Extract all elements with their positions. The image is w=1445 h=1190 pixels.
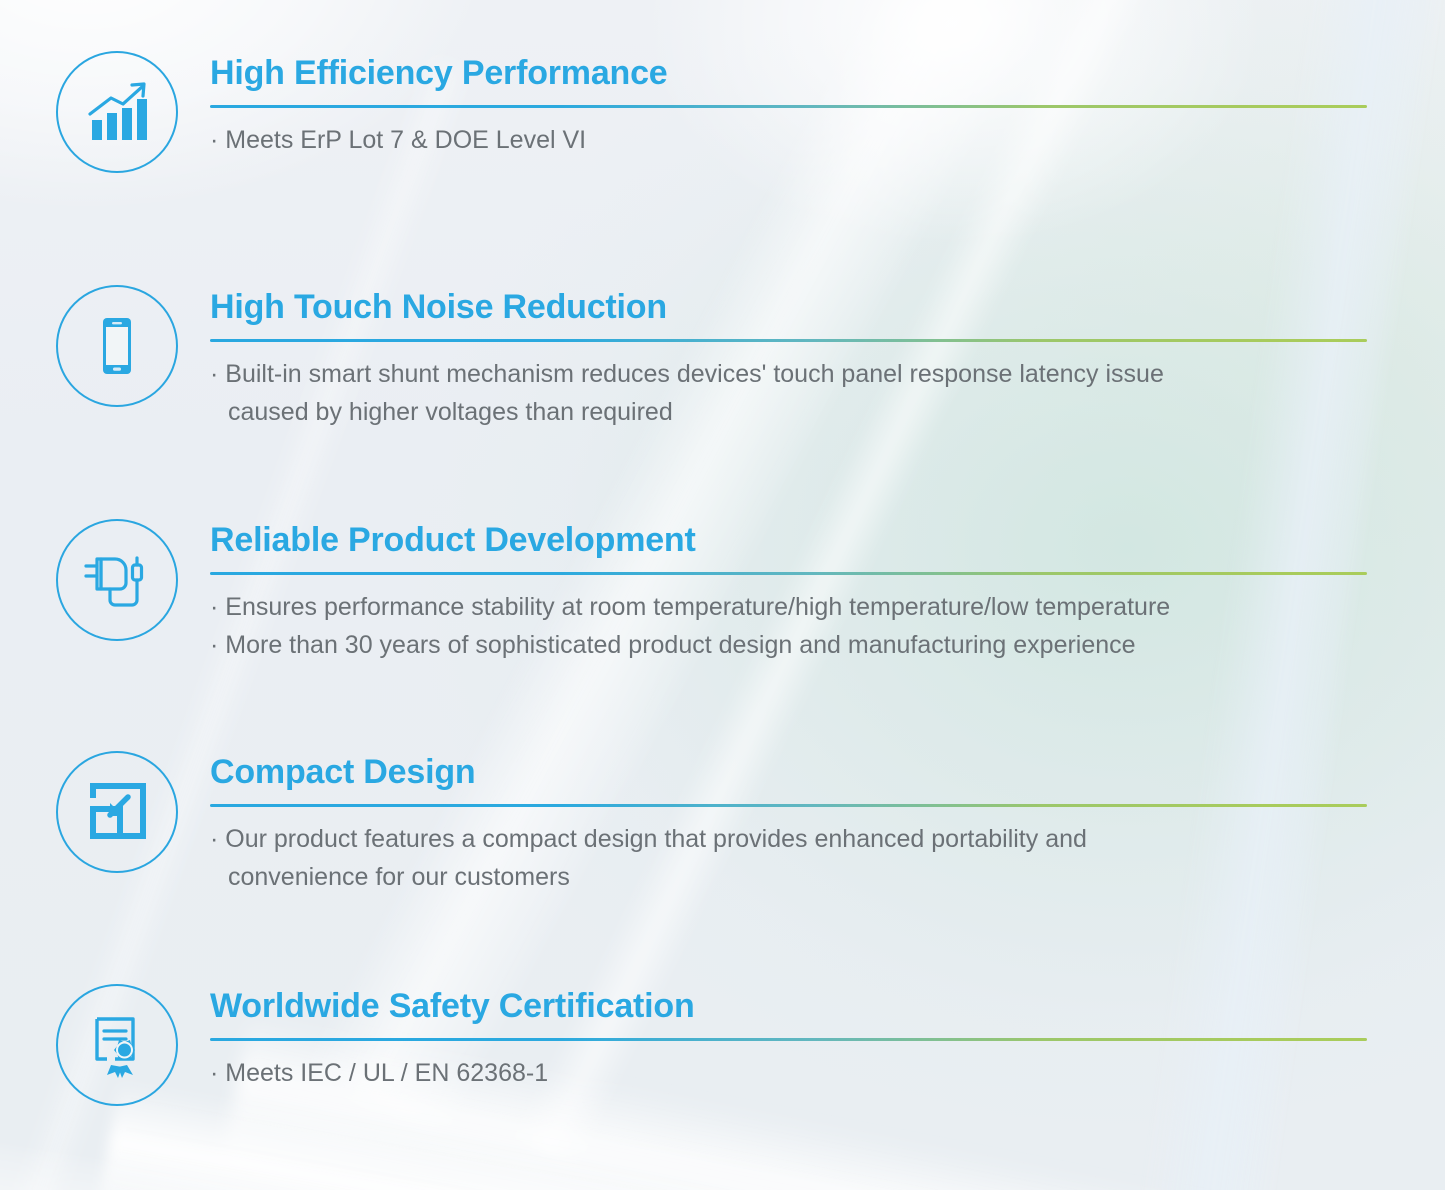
bullet-text-continuation: convenience for our customers	[210, 858, 1367, 896]
background-streak-bottom-2	[99, 1080, 1445, 1190]
feature-title: Compact Design	[210, 752, 1367, 792]
bullet-text: Our product features a compact design th…	[225, 825, 1087, 853]
bar-chart-growth-icon	[81, 76, 153, 148]
feature-title: Worldwide Safety Certification	[210, 986, 1367, 1026]
bullet-text: More than 30 years of sophisticated prod…	[225, 631, 1135, 659]
bullet-mark: ·	[210, 825, 218, 853]
feature-divider	[210, 804, 1367, 807]
feature-body: · Built-in smart shunt mechanism reduces…	[210, 355, 1367, 431]
bullet-mark: ·	[210, 631, 218, 659]
feature-list-page: High Efficiency Performance · Meets ErP …	[0, 0, 1445, 1190]
feature-text-worldwide-safety-certification: Worldwide Safety Certification · Meets I…	[210, 986, 1367, 1092]
icon-circle	[56, 984, 178, 1106]
feature-icon-compact-design	[56, 751, 178, 873]
feature-icon-high-efficiency-performance	[56, 51, 178, 173]
feature-text-high-touch-noise-reduction: High Touch Noise Reduction · Built-in sm…	[210, 287, 1367, 431]
feature-body: · Our product features a compact design …	[210, 820, 1367, 896]
bullet-text-continuation: caused by higher voltages than required	[210, 393, 1367, 431]
resize-shrink-icon	[81, 776, 153, 848]
feature-icon-reliable-product-development	[56, 519, 178, 641]
feature-title: High Efficiency Performance	[210, 53, 1367, 93]
feature-icon-high-touch-noise-reduction	[56, 285, 178, 407]
bullet-mark: ·	[210, 360, 218, 388]
bullet-text: Meets ErP Lot 7 & DOE Level VI	[225, 126, 586, 154]
icon-circle	[56, 285, 178, 407]
power-adapter-icon	[79, 544, 155, 616]
bullet-mark: ·	[210, 1059, 218, 1087]
feature-title: High Touch Noise Reduction	[210, 287, 1367, 327]
feature-bullet-line: · Ensures performance stability at room …	[210, 588, 1367, 626]
bullet-text: Meets IEC / UL / EN 62368-1	[225, 1059, 548, 1087]
feature-text-reliable-product-development: Reliable Product Development · Ensures p…	[210, 520, 1367, 664]
feature-bullet-line: · Meets ErP Lot 7 & DOE Level VI	[210, 121, 1367, 159]
background-streak-bottom-3	[0, 1140, 1445, 1190]
feature-bullet-line: · More than 30 years of sophisticated pr…	[210, 626, 1367, 664]
feature-text-high-efficiency-performance: High Efficiency Performance · Meets ErP …	[210, 53, 1367, 159]
feature-bullet-line: · Meets IEC / UL / EN 62368-1	[210, 1054, 1367, 1092]
bullet-text: Ensures performance stability at room te…	[225, 593, 1170, 621]
feature-divider	[210, 339, 1367, 342]
icon-circle	[56, 51, 178, 173]
bullet-mark: ·	[210, 593, 218, 621]
certificate-award-icon	[81, 1009, 153, 1081]
bullet-text: Built-in smart shunt mechanism reduces d…	[225, 360, 1164, 388]
feature-text-compact-design: Compact Design · Our product features a …	[210, 752, 1367, 896]
bullet-mark: ·	[210, 126, 218, 154]
feature-bullet-line: · Our product features a compact design …	[210, 820, 1367, 896]
feature-divider	[210, 1038, 1367, 1041]
feature-body: · Ensures performance stability at room …	[210, 588, 1367, 664]
feature-divider	[210, 105, 1367, 108]
feature-icon-worldwide-safety-certification	[56, 984, 178, 1106]
feature-body: · Meets IEC / UL / EN 62368-1	[210, 1054, 1367, 1092]
feature-title: Reliable Product Development	[210, 520, 1367, 560]
feature-bullet-line: · Built-in smart shunt mechanism reduces…	[210, 355, 1367, 431]
feature-divider	[210, 572, 1367, 575]
smartphone-icon	[81, 310, 153, 382]
feature-body: · Meets ErP Lot 7 & DOE Level VI	[210, 121, 1367, 159]
icon-circle	[56, 519, 178, 641]
icon-circle	[56, 751, 178, 873]
